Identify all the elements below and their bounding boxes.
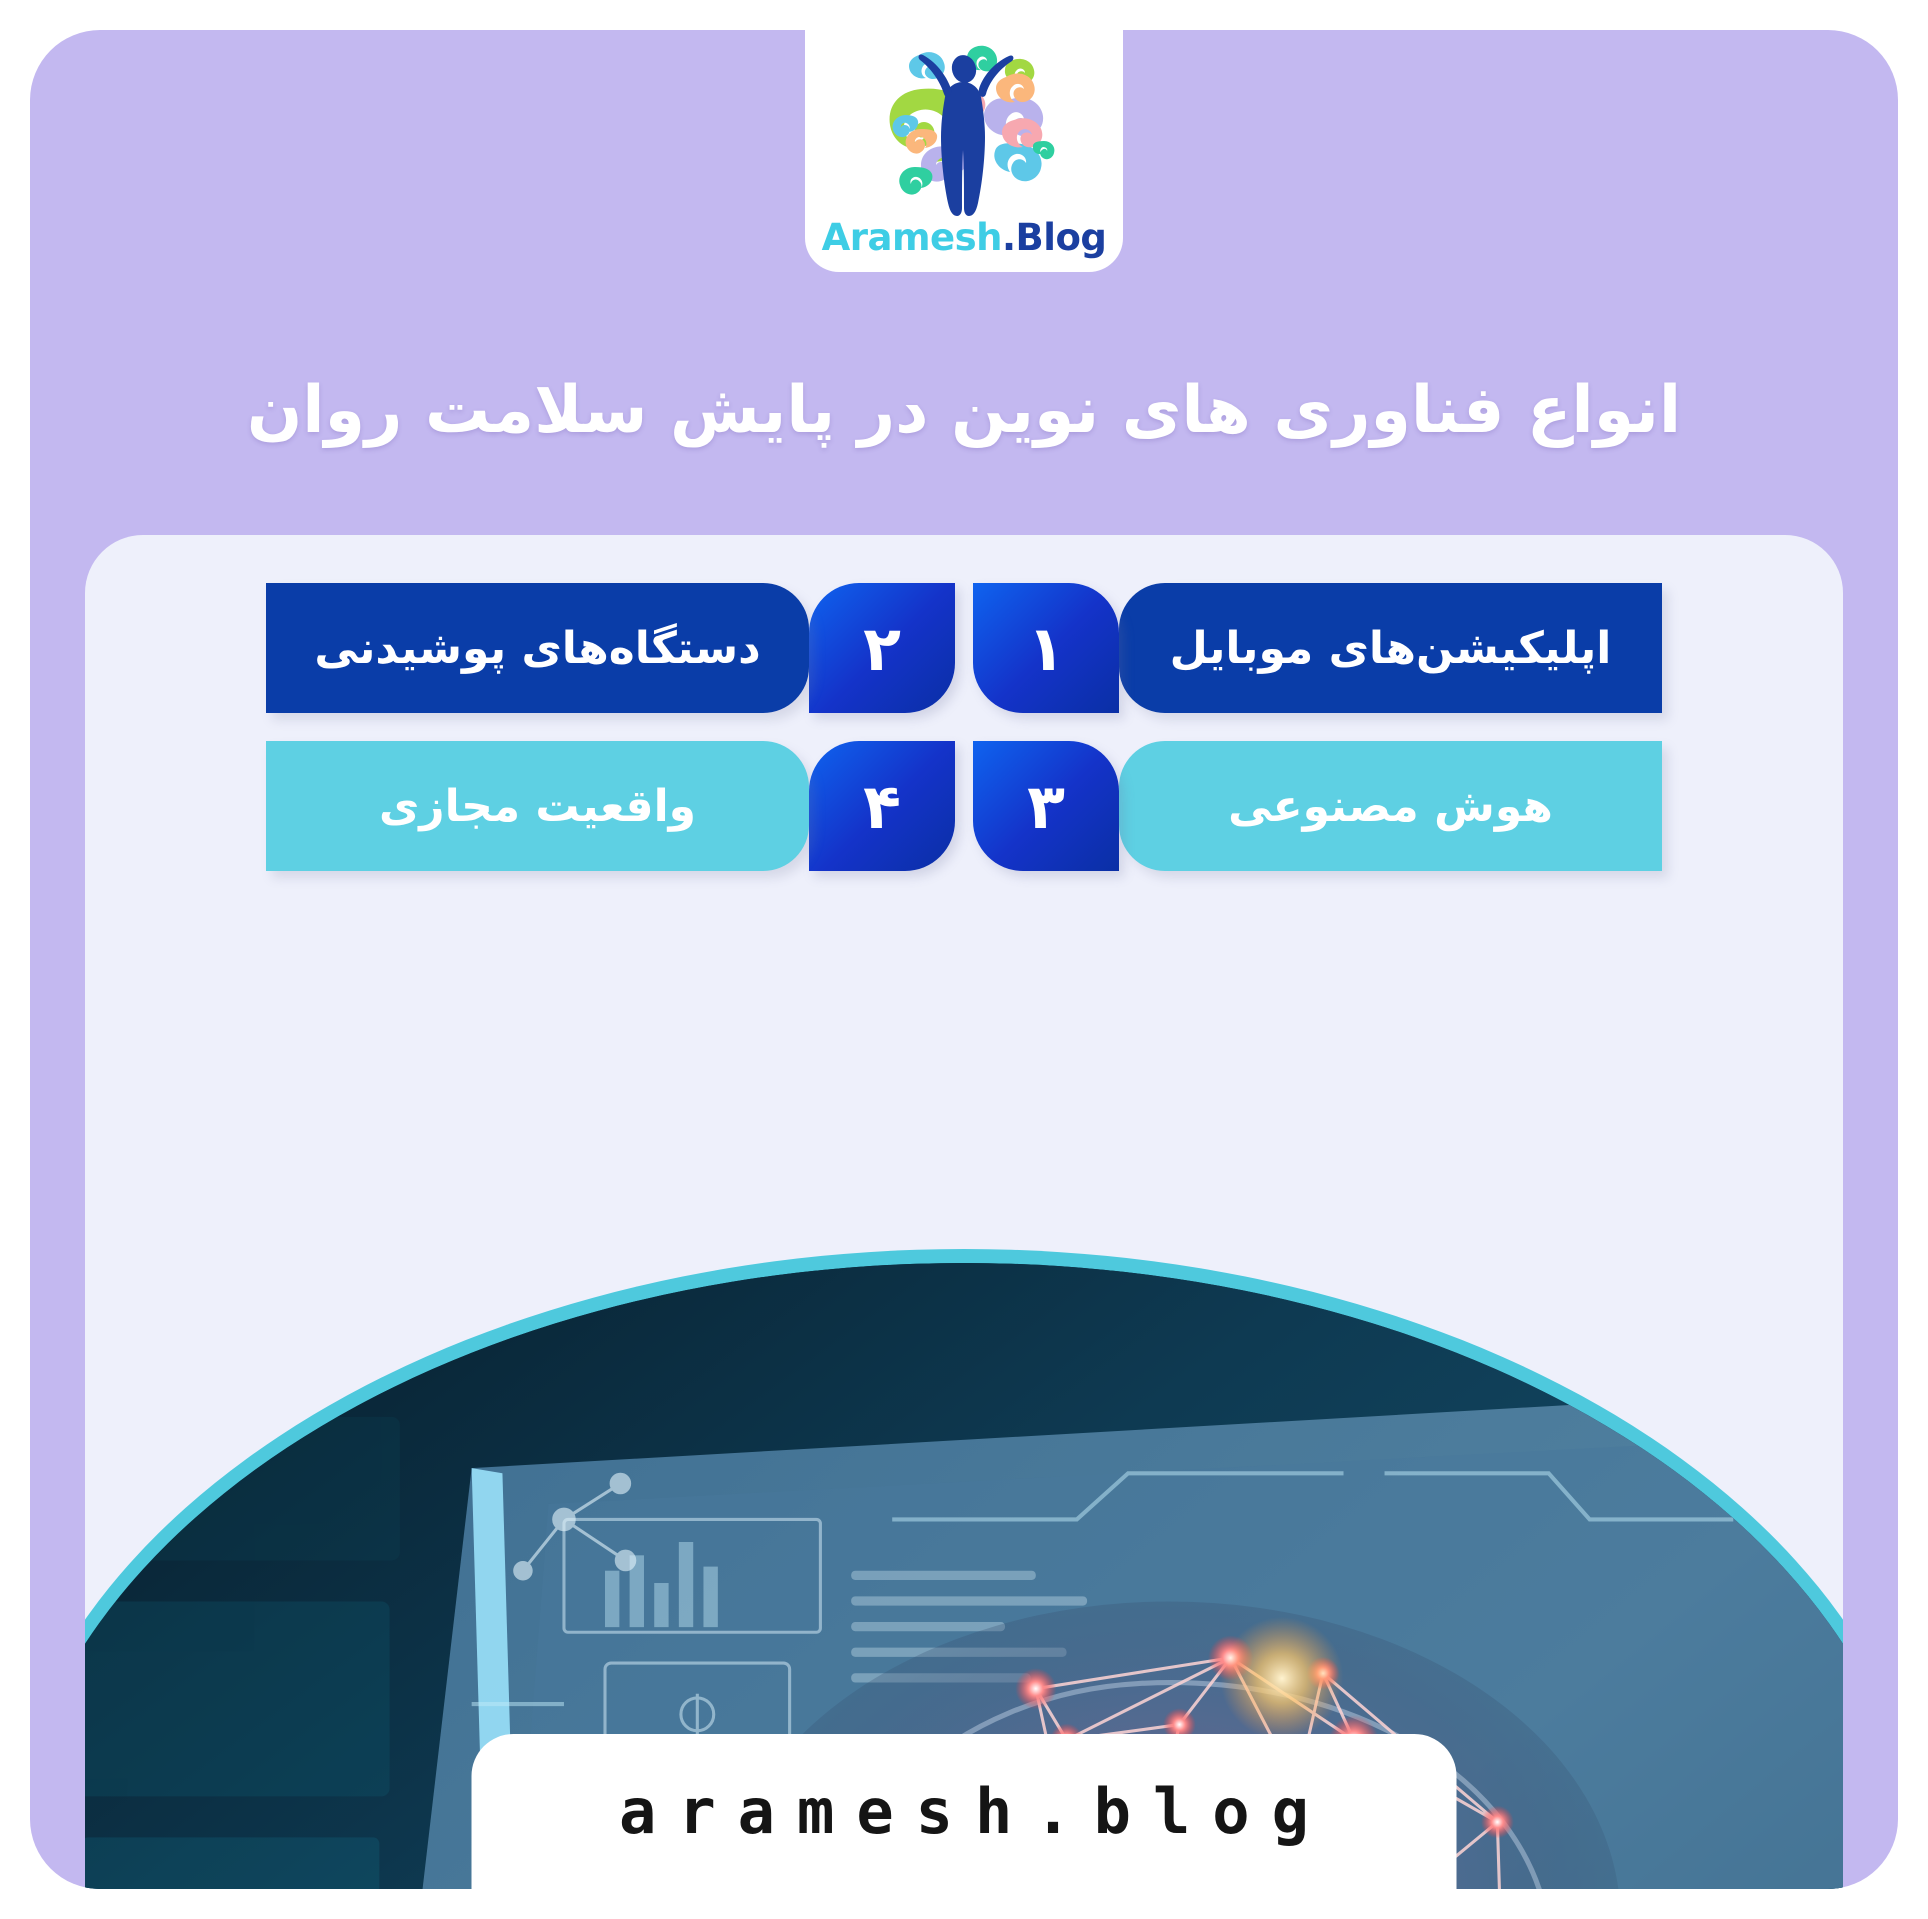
brand-logo-plate: Aramesh.Blog (805, 30, 1123, 272)
chip-divider (955, 583, 973, 713)
footer-url-text[interactable]: aramesh.blog (597, 1775, 1331, 1848)
list-item-text: هوش مصنوعی (1228, 781, 1553, 832)
technology-list: اپلیکیشن‌های موبایل ۱ ۲ دستگاه‌های پوشید… (85, 583, 1843, 899)
brand-logo-text: Aramesh.Blog (822, 219, 1107, 256)
brand-name-suffix: .Blog (1002, 216, 1106, 259)
number-text: ۴ (863, 770, 901, 843)
list-item-text: دستگاه‌های پوشیدنی (314, 623, 760, 674)
list-row: هوش مصنوعی ۳ ۴ واقعیت مجازی (85, 741, 1843, 871)
list-item-text: واقعیت مجازی (379, 781, 696, 832)
page-title: انواع فناوری های نوین در پایش سلامت روان (170, 368, 1758, 454)
photo-section: aramesh.blog (85, 1249, 1843, 1889)
chip-divider (955, 741, 973, 871)
list-item-number-4[interactable]: ۴ (809, 741, 955, 871)
list-item-label-3[interactable]: هوش مصنوعی (1119, 741, 1662, 871)
brand-name-primary: Aramesh (822, 216, 1002, 259)
list-item-number-3[interactable]: ۳ (973, 741, 1119, 871)
list-item-number-1[interactable]: ۱ (973, 583, 1119, 713)
number-text: ۱ (1027, 612, 1065, 685)
content-card: اپلیکیشن‌های موبایل ۱ ۲ دستگاه‌های پوشید… (85, 535, 1843, 1889)
poster-canvas: Aramesh.Blog انواع فناوری های نوین در پا… (30, 30, 1898, 1889)
list-item-label-4[interactable]: واقعیت مجازی (266, 741, 809, 871)
number-text: ۳ (1027, 770, 1065, 843)
list-row: اپلیکیشن‌های موبایل ۱ ۲ دستگاه‌های پوشید… (85, 583, 1843, 713)
footer-url-plate: aramesh.blog (472, 1734, 1457, 1889)
list-item-number-2[interactable]: ۲ (809, 583, 955, 713)
list-item-text: اپلیکیشن‌های موبایل (1170, 623, 1612, 674)
list-item-label-2[interactable]: دستگاه‌های پوشیدنی (266, 583, 809, 713)
number-text: ۲ (863, 612, 901, 685)
list-item-label-1[interactable]: اپلیکیشن‌های موبایل (1119, 583, 1662, 713)
person-tree-leaves-icon (859, 41, 1069, 217)
